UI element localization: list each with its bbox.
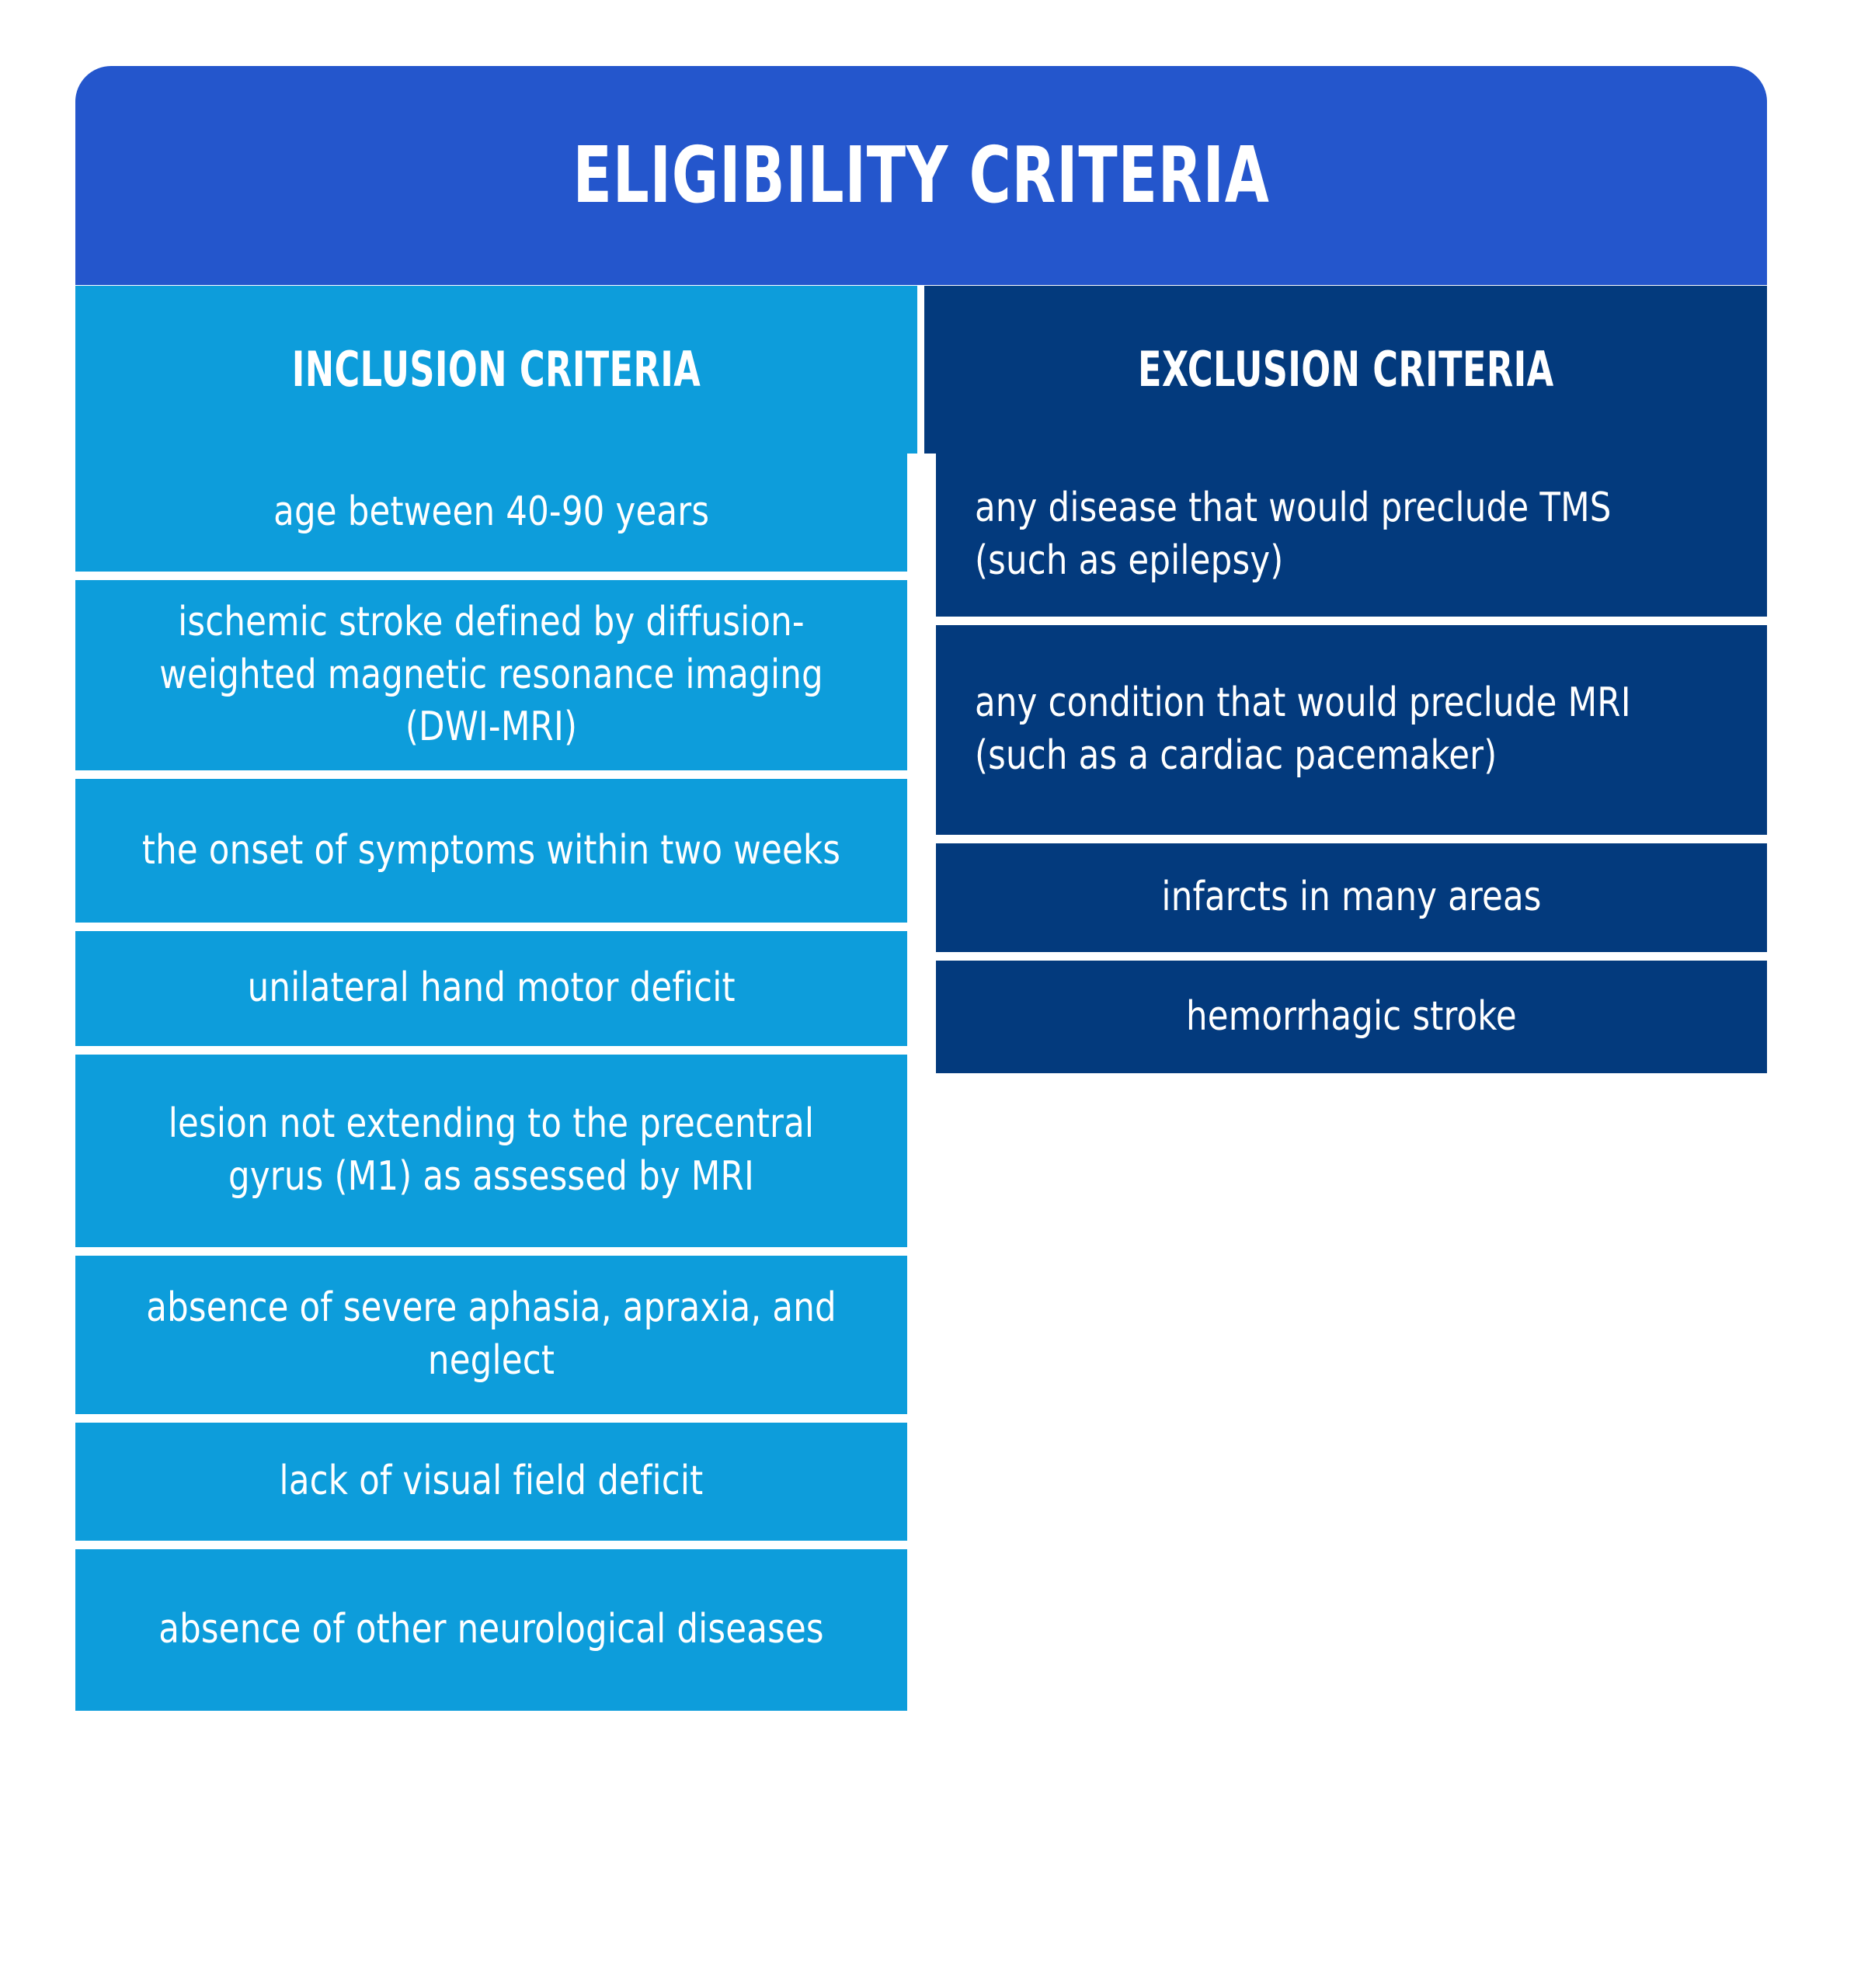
exclusion-item-list: any disease that would preclude TMS (suc… xyxy=(936,454,1767,1082)
list-item: absence of other neurological diseases xyxy=(75,1549,907,1711)
exclusion-column-header: EXCLUSION CRITERIA xyxy=(924,286,1767,454)
exclusion-item-text: hemorrhagic stroke xyxy=(1186,991,1517,1044)
exclusion-column: EXCLUSION CRITERIA any disease that woul… xyxy=(924,286,1767,454)
list-item: lack of visual field deficit xyxy=(75,1423,907,1541)
exclusion-item-text: infarcts in many areas xyxy=(1161,871,1541,924)
inclusion-item-text: age between 40-90 years xyxy=(273,486,709,539)
list-item: any condition that would preclude MRI (s… xyxy=(936,625,1767,835)
exclusion-item-text: any disease that would preclude TMS (suc… xyxy=(975,482,1675,587)
inclusion-item-text: absence of other neurological diseases xyxy=(158,1604,824,1656)
inclusion-item-text: absence of severe aphasia, apraxia, and … xyxy=(130,1282,852,1387)
list-item: lesion not extending to the precentral g… xyxy=(75,1055,907,1247)
inclusion-column-heading: INCLUSION CRITERIA xyxy=(292,346,701,394)
exclusion-column-heading: EXCLUSION CRITERIA xyxy=(1138,346,1554,394)
page-title: ELIGIBILITY CRITERIA xyxy=(572,137,1269,214)
list-item: absence of severe aphasia, apraxia, and … xyxy=(75,1256,907,1414)
inclusion-column: INCLUSION CRITERIA age between 40-90 yea… xyxy=(75,286,917,454)
exclusion-item-text: any condition that would preclude MRI (s… xyxy=(975,677,1675,782)
inclusion-item-text: ischemic stroke defined by diffusion-wei… xyxy=(130,596,852,754)
inclusion-item-text: lack of visual field deficit xyxy=(280,1455,704,1508)
list-item: ischemic stroke defined by diffusion-wei… xyxy=(75,580,907,770)
inclusion-item-text: lesion not extending to the precentral g… xyxy=(130,1098,852,1203)
list-item: the onset of symptoms within two weeks xyxy=(75,779,907,923)
eligibility-criteria-figure: ELIGIBILITY CRITERIA INCLUSION CRITERIA … xyxy=(0,0,1854,1988)
inclusion-item-text: the onset of symptoms within two weeks xyxy=(142,825,840,878)
inclusion-item-text: unilateral hand motor deficit xyxy=(247,962,735,1015)
list-item: age between 40-90 years xyxy=(75,454,907,572)
list-item: unilateral hand motor deficit xyxy=(75,931,907,1046)
inclusion-item-list: age between 40-90 years ischemic stroke … xyxy=(75,454,907,1719)
list-item: infarcts in many areas xyxy=(936,843,1767,952)
inclusion-column-header: INCLUSION CRITERIA xyxy=(75,286,917,454)
list-item: any disease that would preclude TMS (suc… xyxy=(936,454,1767,617)
list-item: hemorrhagic stroke xyxy=(936,961,1767,1073)
figure-title-bar: ELIGIBILITY CRITERIA xyxy=(75,66,1767,285)
